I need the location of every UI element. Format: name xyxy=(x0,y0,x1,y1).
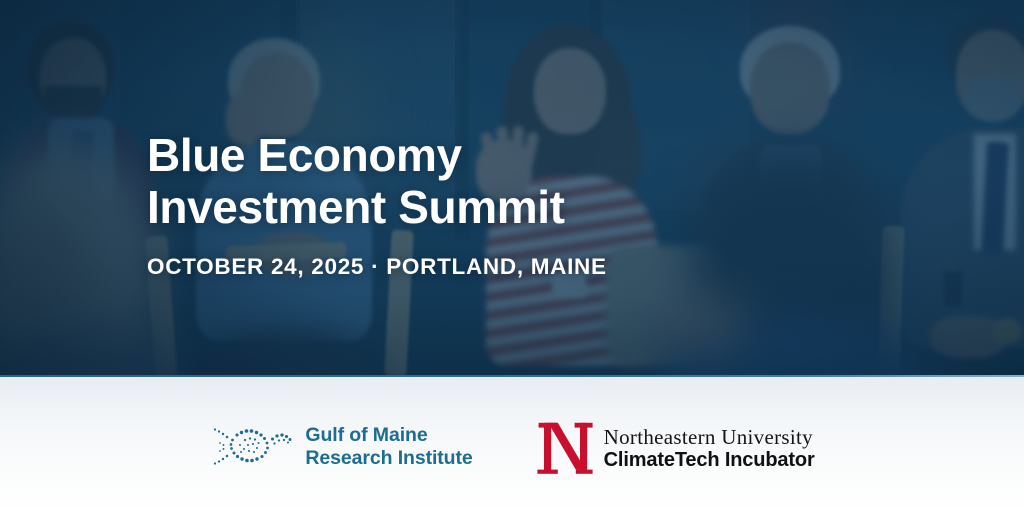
northeastern-n-monogram-icon xyxy=(535,418,595,478)
event-dateline: OCTOBER 24, 2025 · PORTLAND, MAINE xyxy=(147,254,607,280)
gmri-logo[interactable]: Gulf of Maine Research Institute xyxy=(209,423,472,471)
northeastern-logo[interactable]: Northeastern University ClimateTech Incu… xyxy=(535,418,815,476)
banner-copy: Blue Economy Investment Summit OCTOBER 2… xyxy=(147,129,607,280)
gmri-line-2: Research Institute xyxy=(305,447,472,470)
logo-band: Gulf of Maine Research Institute xyxy=(0,375,1024,512)
gmri-wordmark: Gulf of Maine Research Institute xyxy=(305,424,472,470)
headline-line-1: Blue Economy xyxy=(147,129,462,181)
northeastern-line-2: ClimateTech Incubator xyxy=(604,449,815,472)
northeastern-wordmark: Northeastern University ClimateTech Incu… xyxy=(604,425,815,476)
page-title: Blue Economy Investment Summit xyxy=(147,129,607,233)
logo-row: Gulf of Maine Research Institute xyxy=(0,375,1024,512)
northeastern-line-1: Northeastern University xyxy=(604,425,815,449)
gmri-line-1: Gulf of Maine xyxy=(305,424,472,447)
gmri-dotted-fish-icon xyxy=(209,423,293,471)
headline-line-2: Investment Summit xyxy=(147,181,607,233)
event-banner: Blue Economy Investment Summit OCTOBER 2… xyxy=(0,0,1024,512)
